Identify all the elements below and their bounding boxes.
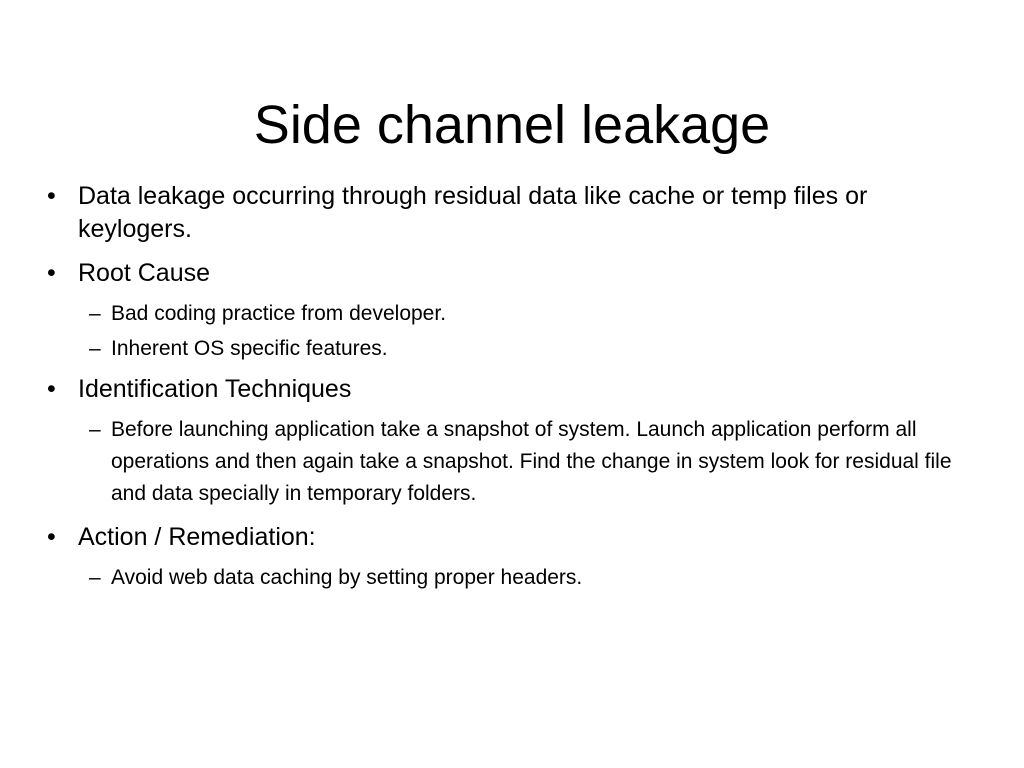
- sub-bullet-text: Before launching application take a snap…: [111, 414, 974, 510]
- sub-bullet-item: – Avoid web data caching by setting prop…: [44, 562, 974, 594]
- bullet-dot-icon: •: [47, 180, 67, 213]
- bullet-text: Data leakage occurring through residual …: [78, 180, 974, 246]
- bullet-dash-icon: –: [89, 414, 109, 446]
- bullet-dash-icon: –: [89, 298, 109, 330]
- bullet-item: • Data leakage occurring through residua…: [44, 180, 974, 246]
- sub-bullet-item: – Before launching application take a sn…: [44, 414, 974, 510]
- sub-bullet-text: Bad coding practice from developer.: [111, 298, 974, 330]
- bullet-dash-icon: –: [89, 333, 109, 365]
- bullet-item: • Root Cause: [44, 257, 974, 290]
- sub-bullet-text: Avoid web data caching by setting proper…: [111, 562, 974, 594]
- bullet-text: Root Cause: [78, 257, 974, 290]
- sub-bullet-item: – Bad coding practice from developer.: [44, 298, 974, 330]
- bullet-text: Identification Techniques: [78, 373, 974, 406]
- presentation-slide: Side channel leakage • Data leakage occu…: [0, 0, 1024, 768]
- sub-bullet-text: Inherent OS specific features.: [111, 333, 974, 365]
- bullet-dot-icon: •: [47, 373, 67, 406]
- bullet-dash-icon: –: [89, 562, 109, 594]
- bullet-dot-icon: •: [47, 521, 67, 554]
- slide-title: Side channel leakage: [0, 94, 1024, 156]
- slide-body-content: • Data leakage occurring through residua…: [44, 180, 974, 598]
- sub-bullet-item: – Inherent OS specific features.: [44, 333, 974, 365]
- bullet-dot-icon: •: [47, 257, 67, 290]
- bullet-item: • Action / Remediation:: [44, 521, 974, 554]
- bullet-item: • Identification Techniques: [44, 373, 974, 406]
- bullet-text: Action / Remediation:: [78, 521, 974, 554]
